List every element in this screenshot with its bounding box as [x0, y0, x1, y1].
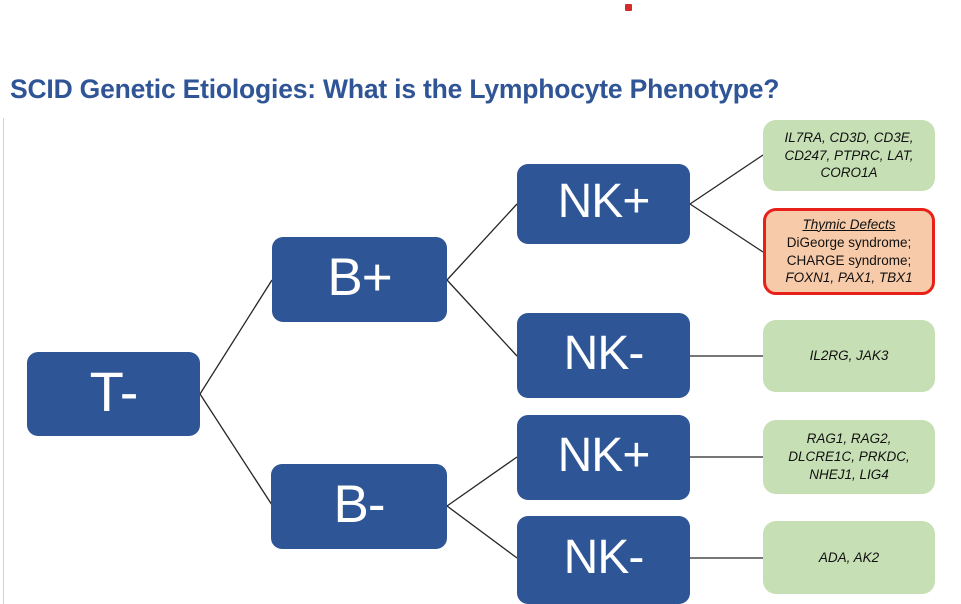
gene-line: ADA, AK2: [819, 549, 879, 567]
connector-nkplus-to-thymic: [690, 204, 763, 252]
syndrome-line: DiGeorge syndrome;: [785, 234, 912, 252]
gene-line: NHEJ1, LIG4: [788, 466, 910, 484]
leaf-b-plus-nk-minus-genes[interactable]: IL2RG, JAK3: [763, 320, 935, 392]
slide-canvas: SCID Genetic Etiologies: What is the Lym…: [0, 0, 961, 604]
node-b-positive-label: B+: [327, 251, 391, 304]
leaf-thymic-defects[interactable]: Thymic Defects DiGeorge syndrome; CHARGE…: [763, 208, 935, 295]
connector-bplus-to-nkminus: [447, 280, 517, 356]
node-nk-positive-bottom-label: NK+: [558, 432, 650, 480]
node-nk-negative-bottom[interactable]: NK-: [517, 516, 690, 604]
syndrome-line: CHARGE syndrome;: [785, 252, 912, 270]
node-nk-positive-top[interactable]: NK+: [517, 164, 690, 244]
node-b-negative[interactable]: B-: [271, 464, 447, 549]
node-nk-negative-bottom-label: NK-: [564, 534, 644, 582]
gene-line: IL7RA, CD3D, CD3E,: [784, 129, 913, 147]
connector-bplus-to-nkplus: [447, 204, 517, 280]
node-nk-negative-top-label: NK-: [564, 330, 644, 378]
leaf-b-minus-nk-minus-genes[interactable]: ADA, AK2: [763, 521, 935, 594]
node-t-negative-label: T-: [90, 364, 138, 420]
node-t-negative[interactable]: T-: [27, 352, 200, 436]
node-nk-positive-bottom[interactable]: NK+: [517, 415, 690, 500]
node-nk-negative-top[interactable]: NK-: [517, 313, 690, 398]
node-b-negative-label: B-: [334, 478, 385, 531]
gene-line: DLCRE1C, PRKDC,: [788, 448, 910, 466]
gene-line: CORO1A: [784, 164, 913, 182]
gene-line: RAG1, RAG2,: [788, 430, 910, 448]
node-nk-positive-top-label: NK+: [558, 178, 650, 226]
gene-line: IL2RG, JAK3: [810, 347, 889, 365]
leaf-b-minus-nk-plus-genes[interactable]: RAG1, RAG2, DLCRE1C, PRKDC, NHEJ1, LIG4: [763, 420, 935, 494]
leaf-tbnk-plus-genes[interactable]: IL7RA, CD3D, CD3E, CD247, PTPRC, LAT, CO…: [763, 120, 935, 191]
connector-root-to-bminus: [200, 394, 272, 505]
gene-line: CD247, PTPRC, LAT,: [784, 147, 913, 165]
connector-bminus-to-nkminus: [447, 506, 517, 558]
node-b-positive[interactable]: B+: [272, 237, 447, 322]
gene-line: FOXN1, PAX1, TBX1: [785, 269, 912, 287]
connector-lines: [0, 0, 961, 604]
connector-nkplus-to-genes: [690, 155, 763, 204]
connector-bminus-to-nkplus: [447, 457, 517, 506]
thymic-defects-heading: Thymic Defects: [785, 216, 912, 234]
connector-root-to-bplus: [200, 280, 272, 394]
